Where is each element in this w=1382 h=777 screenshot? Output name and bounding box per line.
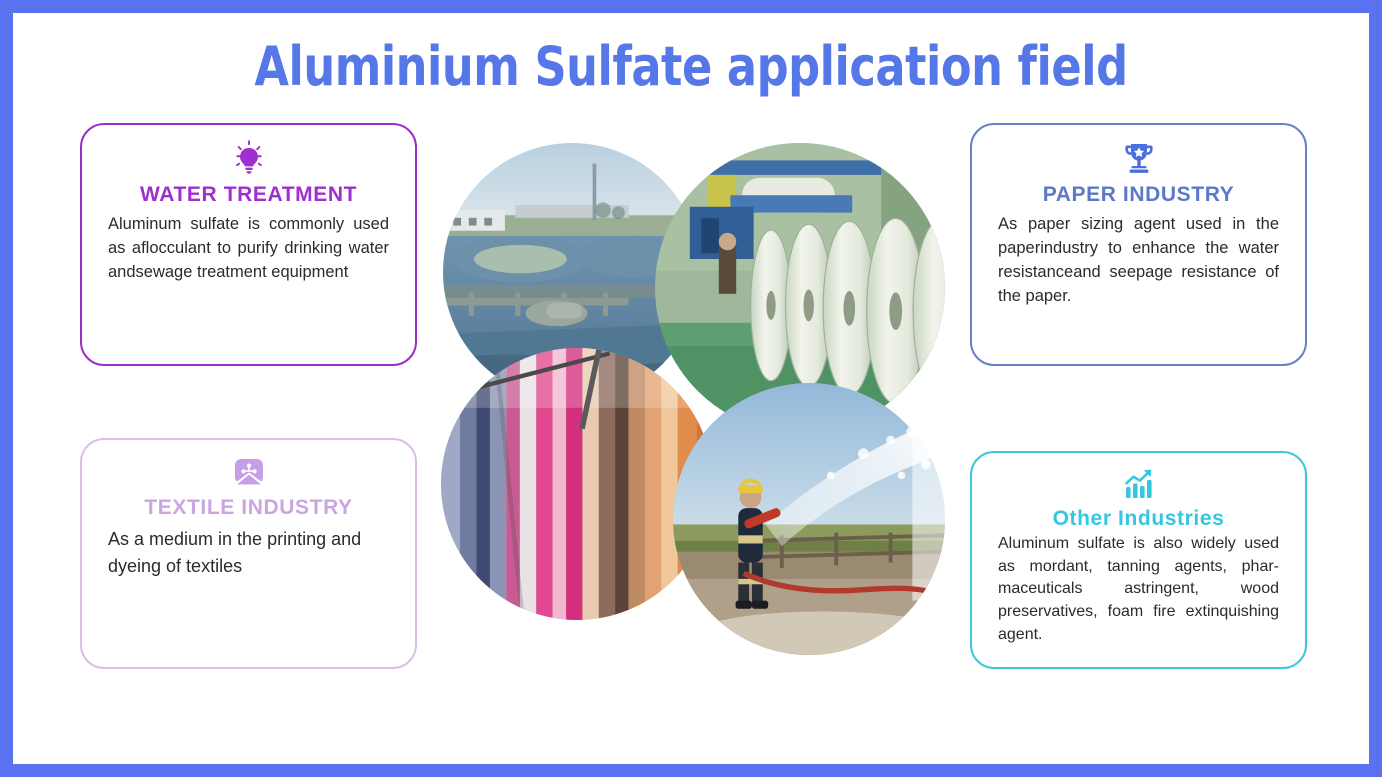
card-other-industries[interactable]: Other Industries Aluminum sulfate is als… [970,451,1307,669]
card-body-other-industries: Aluminum sulfate is also widely used as … [998,533,1279,647]
bar-chart-growth-icon [1120,465,1158,503]
card-heading-other-industries: Other Industries [1053,507,1225,531]
card-textile-industry[interactable]: TEXTILE INDUSTRY As a medium in the prin… [80,438,417,669]
card-water-treatment[interactable]: WATER TREATMENT Aluminum sulfate is comm… [80,123,417,366]
card-body-water-treatment: Aluminum sulfate is commonly used as afl… [108,213,389,285]
card-heading-textile-industry: TEXTILE INDUSTRY [144,496,352,520]
trophy-icon [1119,139,1159,179]
card-paper-industry[interactable]: PAPER INDUSTRY As paper sizing agent use… [970,123,1307,366]
card-body-paper-industry: As paper sizing agent used in the paperi… [998,213,1279,309]
photo-cluster [433,133,953,673]
card-heading-paper-industry: PAPER INDUSTRY [1043,183,1235,207]
card-heading-water-treatment: WATER TREATMENT [140,183,357,207]
poster-frame: Aluminium Sulfate application field [0,0,1382,777]
lightbulb-icon [229,139,269,179]
card-body-textile-industry: As a medium in the printing and dyeing o… [108,526,389,580]
firefighter-foam-spray-photo [673,383,945,655]
poster-canvas: Aluminium Sulfate application field [13,13,1369,764]
dyed-textile-fabrics-photo [441,348,713,620]
page-title: Aluminium Sulfate application field [67,35,1315,98]
image-icon [230,454,268,492]
